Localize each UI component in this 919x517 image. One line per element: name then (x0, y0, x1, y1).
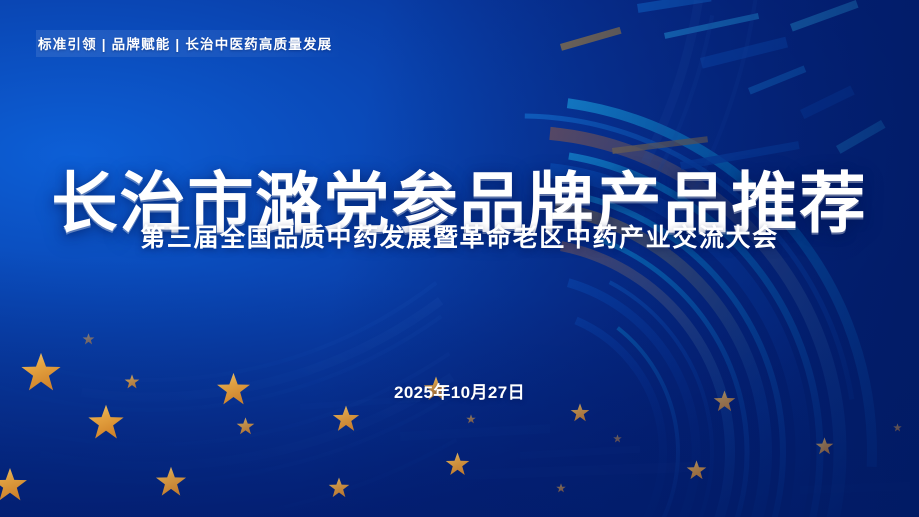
background-bottom-shade (0, 0, 919, 517)
poster-canvas: 标准引领 | 品牌赋能 | 长治中医药高质量发展 长治市潞党参品牌产品推荐 第三… (0, 0, 919, 517)
page-subtitle: 第三届全国品质中药发展暨革命老区中药产业交流大会 (0, 218, 919, 254)
event-date: 2025年10月27日 (0, 378, 919, 403)
tagline-banner: 标准引领 | 品牌赋能 | 长治中医药高质量发展 (36, 30, 344, 57)
